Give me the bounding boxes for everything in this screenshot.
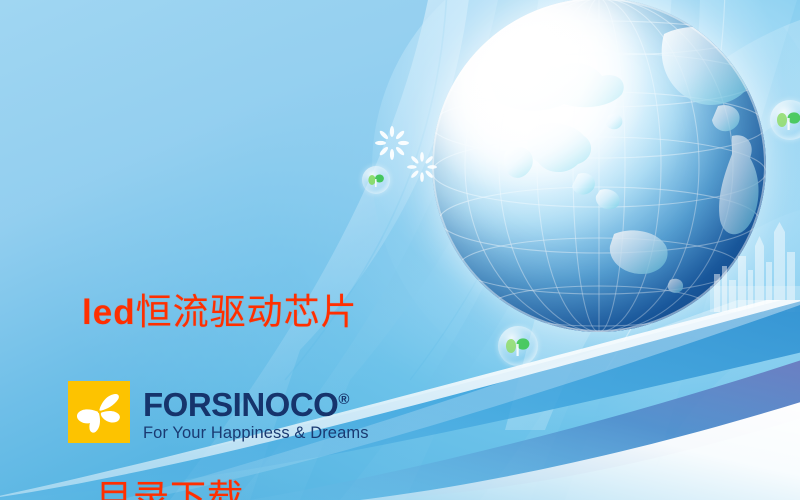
logo-text-block: FORSINOCO® For Your Happiness & Dreams bbox=[143, 381, 369, 443]
bubble-sprout-3 bbox=[770, 100, 800, 140]
bubble-sprout-2 bbox=[498, 326, 538, 366]
poster-headline: led恒流驱动芯片 目录下载 bbox=[82, 158, 502, 500]
logo-wordmark: FORSINOCO® bbox=[143, 383, 369, 422]
logo-pinwheel-mark bbox=[68, 381, 130, 443]
headline-line-2: 目录下载 bbox=[82, 468, 502, 500]
headline-line-1: led恒流驱动芯片 bbox=[82, 282, 502, 344]
logo-wordmark-text: FORSINOCO bbox=[143, 386, 338, 423]
green-sprout-icon-3 bbox=[770, 100, 800, 140]
logo-tagline: For Your Happiness & Dreams bbox=[143, 423, 369, 443]
registered-trademark-icon: ® bbox=[338, 391, 349, 408]
city-skyline bbox=[710, 222, 800, 312]
headline-cjk-part: 恒流驱动芯片 bbox=[136, 292, 358, 333]
company-logo[interactable]: FORSINOCO® For Your Happiness & Dreams bbox=[68, 381, 369, 443]
green-sprout-icon-2 bbox=[498, 326, 538, 366]
poster-canvas: led恒流驱动芯片 目录下载 FORSINOCO® For Your Happi… bbox=[0, 0, 800, 500]
sparkle-flower-icon-1 bbox=[375, 126, 409, 160]
headline-latin-word: led bbox=[82, 293, 136, 332]
